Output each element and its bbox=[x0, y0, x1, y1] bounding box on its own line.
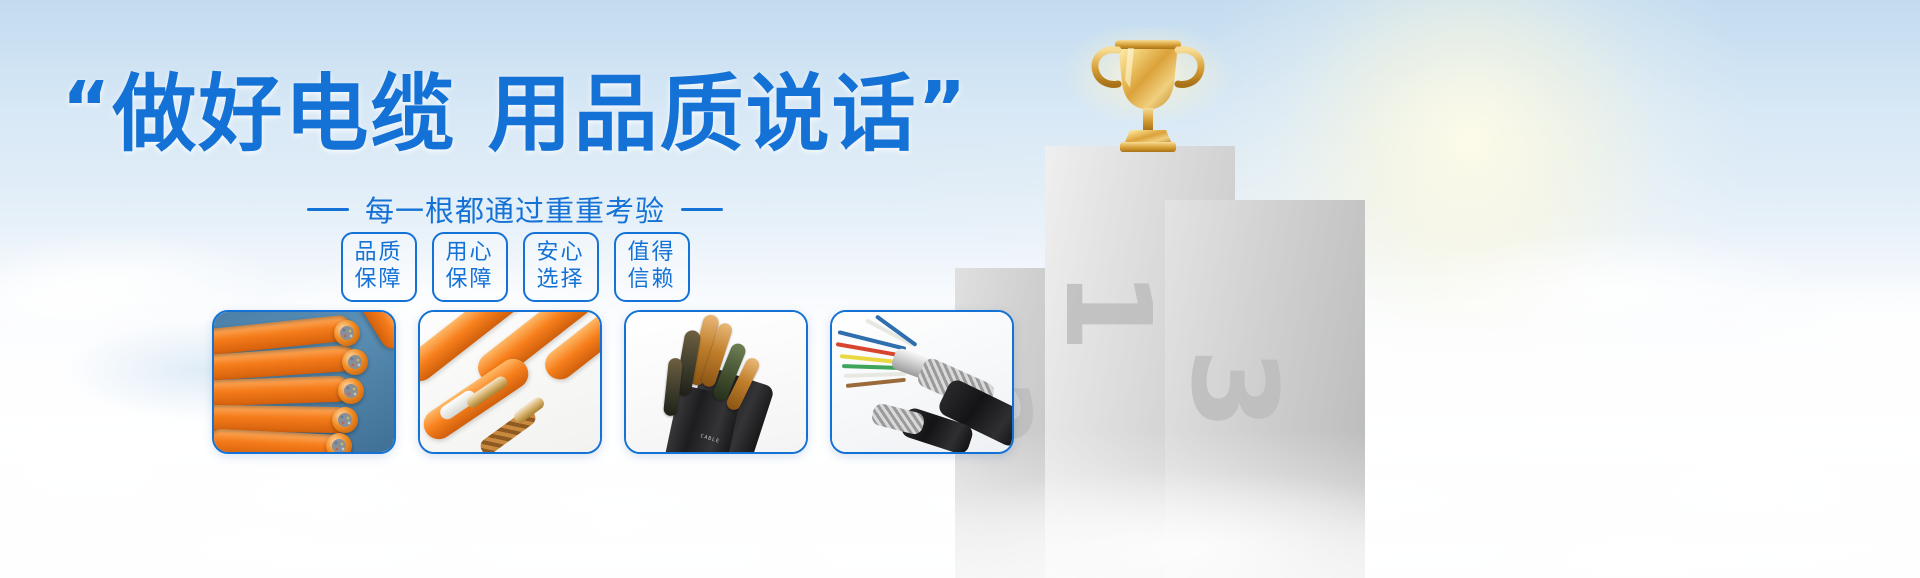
shielded-multicore-cable-image bbox=[832, 312, 1012, 452]
armored-copper-cable-image: CABLE bbox=[626, 312, 806, 452]
badge-line-2: 保障 bbox=[354, 267, 402, 294]
dash-left-icon bbox=[307, 208, 349, 211]
orange-cable-stripped-image bbox=[420, 312, 600, 452]
product-card-orange-cable-bundle[interactable] bbox=[212, 310, 396, 454]
banner-headline: “做好电缆 用品质说话” bbox=[0, 72, 1030, 156]
open-quote: “ bbox=[62, 66, 113, 152]
close-quote: ” bbox=[918, 66, 969, 152]
banner-content: “做好电缆 用品质说话” 每一根都通过重重考验 品质 保障 用心 保障 安心 选… bbox=[0, 0, 1030, 578]
feature-badge-list: 品质 保障 用心 保障 安心 选择 值得 信赖 bbox=[0, 232, 1030, 302]
podium-block-3: 3 bbox=[1165, 200, 1365, 578]
promo-banner: 2 1 3 bbox=[0, 0, 1920, 578]
badge-line-1: 品质 bbox=[354, 240, 402, 267]
product-card-shielded-multicore-cable[interactable] bbox=[830, 310, 1014, 454]
podium-rank-number: 1 bbox=[1039, 270, 1177, 352]
dash-right-icon bbox=[681, 208, 723, 211]
feature-badge-quality[interactable]: 品质 保障 bbox=[341, 232, 417, 302]
gold-trophy-icon bbox=[1060, 28, 1240, 158]
badge-line-1: 安心 bbox=[536, 240, 584, 267]
badge-line-1: 用心 bbox=[445, 240, 493, 267]
podium-rank-number: 3 bbox=[1165, 348, 1303, 430]
podium-group: 2 1 3 bbox=[960, 0, 1920, 578]
badge-line-2: 保障 bbox=[445, 267, 493, 294]
feature-badge-confidence[interactable]: 安心 选择 bbox=[523, 232, 599, 302]
headline-text: 做好电缆 用品质说话 bbox=[112, 65, 917, 163]
badge-line-2: 选择 bbox=[536, 267, 584, 294]
badge-line-1: 值得 bbox=[627, 240, 675, 267]
badge-line-2: 信赖 bbox=[627, 267, 675, 294]
feature-badge-trust[interactable]: 值得 信赖 bbox=[614, 232, 690, 302]
product-card-orange-cable-stripped[interactable] bbox=[418, 310, 602, 454]
orange-cable-bundle-image bbox=[214, 312, 394, 452]
product-card-armored-copper-cable[interactable]: CABLE bbox=[624, 310, 808, 454]
feature-badge-care[interactable]: 用心 保障 bbox=[432, 232, 508, 302]
product-image-card-list: CABLE bbox=[212, 310, 1014, 454]
banner-subtitle: 每一根都通过重重考验 bbox=[365, 188, 665, 230]
banner-subtitle-row: 每一根都通过重重考验 bbox=[0, 188, 1030, 230]
